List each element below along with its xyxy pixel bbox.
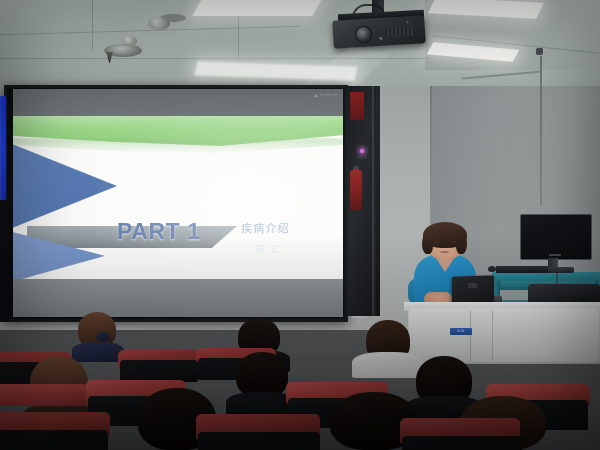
projector-blue-spill — [0, 96, 6, 206]
screen-frame-left-edge — [0, 200, 8, 322]
presenter-hair — [423, 222, 467, 248]
presenter-eye — [452, 241, 456, 243]
led-mount — [357, 156, 367, 159]
hair-clip — [96, 332, 110, 341]
computer-mouse — [488, 266, 496, 272]
slide-green-band-shadow — [13, 138, 343, 154]
computer-keyboard — [496, 266, 548, 273]
audience-shoulders — [72, 342, 124, 362]
laptop-logo — [468, 283, 477, 288]
presentation-slide: PART 1 疾病介绍 病 亡 — [13, 116, 343, 284]
auditorium-seat-back — [120, 360, 198, 382]
screen-unlit-bottom — [13, 279, 343, 317]
audience-shoulders — [352, 352, 424, 378]
status-led-indicator — [360, 149, 364, 153]
slide-part-label: PART 1 — [117, 218, 201, 245]
monitor-logo — [549, 254, 561, 256]
wall-bracket — [536, 48, 543, 55]
podium-label-text: A-01 — [451, 328, 471, 335]
slide-heading-chinese: 疾病介绍 — [241, 220, 290, 236]
screen-brand-label: FUJIFILM — [314, 93, 337, 97]
fire-extinguisher-icon — [350, 170, 362, 210]
projector-lens-icon — [355, 25, 373, 43]
podium-seam — [470, 311, 471, 361]
projector-indicator — [406, 21, 408, 23]
screen-brand-text: FUJIFILM — [320, 93, 337, 97]
projection-screen: PART 1 疾病介绍 病 亡 FUJIFILM — [4, 85, 348, 322]
auditorium-seat — [0, 384, 88, 406]
presenter-mouth — [440, 251, 449, 253]
podium-front-panel — [492, 315, 557, 357]
wall-conduit — [540, 56, 542, 206]
ceiling-projector — [332, 15, 426, 49]
ceiling-seam — [0, 58, 430, 59]
slide-blue-triangle — [13, 138, 117, 234]
auditorium-seat-back — [402, 436, 522, 450]
screen-surface: PART 1 疾病介绍 病 亡 FUJIFILM — [13, 89, 343, 317]
ceiling-light-panel — [192, 0, 324, 16]
projector-vent — [385, 25, 416, 38]
lecture-hall-photo: PART 1 疾病介绍 病 亡 FUJIFILM — [0, 0, 600, 450]
slide-subheading-chinese: 病 亡 — [255, 242, 282, 255]
auditorium-seat-back — [0, 430, 108, 450]
smoke-detector-icon — [148, 17, 170, 30]
presenter-eye — [434, 241, 438, 243]
auditorium-seat-back — [198, 432, 320, 450]
fire-safety-sign — [350, 92, 364, 120]
projector-indicator — [379, 37, 382, 40]
brand-triangle-icon — [314, 94, 318, 97]
ceiling-seam — [92, 0, 93, 52]
cabinet-edge — [372, 86, 376, 316]
